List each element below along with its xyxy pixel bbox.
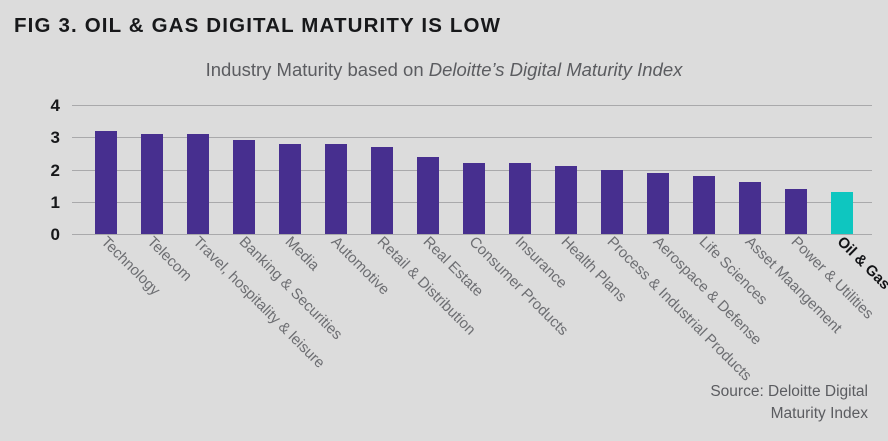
bar[interactable] (95, 131, 117, 234)
bar[interactable] (233, 140, 255, 234)
figure-container: FIG 3. OIL & GAS DIGITAL MATURITY IS LOW… (0, 0, 888, 441)
bar[interactable] (831, 192, 853, 234)
bar[interactable] (647, 173, 669, 234)
bar[interactable] (739, 182, 761, 234)
bar[interactable] (279, 144, 301, 234)
bar[interactable] (785, 189, 807, 234)
bar[interactable] (325, 144, 347, 234)
bar[interactable] (693, 176, 715, 234)
y-axis-tick-label: 1 (30, 194, 60, 211)
bar[interactable] (463, 163, 485, 234)
bar[interactable] (417, 157, 439, 234)
source-line-2: Maturity Index (568, 403, 868, 425)
figure-subtitle: Industry Maturity based on Deloitte’s Di… (0, 59, 888, 81)
figure-subtitle-emphasis: Deloitte’s Digital Maturity Index (429, 59, 683, 80)
y-axis: 01234 (30, 105, 60, 234)
bar[interactable] (601, 170, 623, 235)
figure-title: FIG 3. OIL & GAS DIGITAL MATURITY IS LOW (14, 14, 501, 38)
x-axis-tick-label: Power & Utilities (788, 234, 876, 322)
x-axis-tick-label: Media (282, 234, 321, 273)
y-axis-tick-label: 3 (30, 129, 60, 146)
source-line-1: Source: Deloitte Digital (568, 381, 868, 403)
bar[interactable] (187, 134, 209, 234)
y-axis-tick-label: 0 (30, 226, 60, 243)
figure-subtitle-plain: Industry Maturity based on (206, 59, 429, 80)
x-axis-labels: TechnologyTelecomTravel, hospitality & l… (72, 234, 888, 374)
bar[interactable] (141, 134, 163, 234)
plot-area (72, 105, 872, 234)
bar[interactable] (509, 163, 531, 234)
bar[interactable] (555, 166, 577, 234)
source-note: Source: Deloitte Digital Maturity Index (568, 381, 868, 426)
bar[interactable] (371, 147, 393, 234)
y-axis-tick-label: 2 (30, 162, 60, 179)
gridline (72, 105, 872, 106)
y-axis-tick-label: 4 (30, 97, 60, 114)
